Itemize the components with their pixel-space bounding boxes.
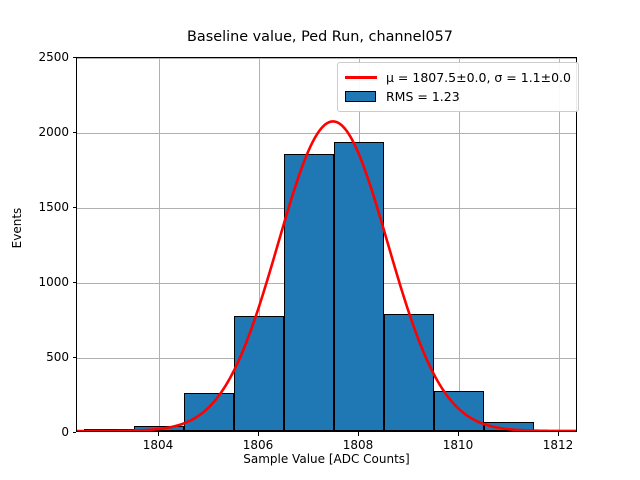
- legend-line-swatch-icon: [344, 71, 378, 85]
- x-tick-label: 1804: [143, 438, 174, 452]
- y-tick-label: 1000: [32, 275, 69, 289]
- y-axis-label: Events: [10, 168, 24, 288]
- legend-patch-swatch-icon: [344, 90, 378, 104]
- x-tick-label: 1806: [243, 438, 274, 452]
- page-title: Baseline value, Ped Run, channel057: [0, 29, 640, 45]
- y-tick-label: 1500: [32, 200, 69, 214]
- y-tick-label: 0: [32, 425, 69, 439]
- y-tick-mark: [73, 432, 77, 433]
- x-tick-mark: [358, 432, 359, 436]
- legend-label-rms: RMS = 1.23: [386, 89, 460, 104]
- legend-item-fit: μ = 1807.5±0.0, σ = 1.1±0.0: [344, 68, 571, 87]
- legend-label-fit: μ = 1807.5±0.0, σ = 1.1±0.0: [386, 70, 571, 85]
- y-tick-mark: [73, 207, 77, 208]
- x-tick-mark: [558, 432, 559, 436]
- gaussian-fit-curve: [77, 58, 576, 431]
- y-tick-mark: [73, 57, 77, 58]
- legend[interactable]: μ = 1807.5±0.0, σ = 1.1±0.0 RMS = 1.23: [337, 62, 579, 112]
- fit-curve-path: [77, 121, 576, 431]
- plot-area: [76, 57, 577, 432]
- figure-canvas: Baseline value, Ped Run, channel057 1804…: [0, 0, 640, 480]
- x-tick-label: 1808: [343, 438, 374, 452]
- x-tick-mark: [258, 432, 259, 436]
- x-tick-label: 1810: [443, 438, 474, 452]
- x-tick-mark: [458, 432, 459, 436]
- x-tick-mark: [158, 432, 159, 436]
- y-tick-mark: [73, 132, 77, 133]
- y-tick-label: 500: [32, 350, 69, 364]
- y-tick-mark: [73, 282, 77, 283]
- x-tick-label: 1812: [543, 438, 574, 452]
- legend-item-rms: RMS = 1.23: [344, 87, 571, 106]
- y-tick-label: 2000: [32, 125, 69, 139]
- y-tick-label: 2500: [32, 50, 69, 64]
- x-axis-label: Sample Value [ADC Counts]: [76, 452, 577, 466]
- y-tick-mark: [73, 357, 77, 358]
